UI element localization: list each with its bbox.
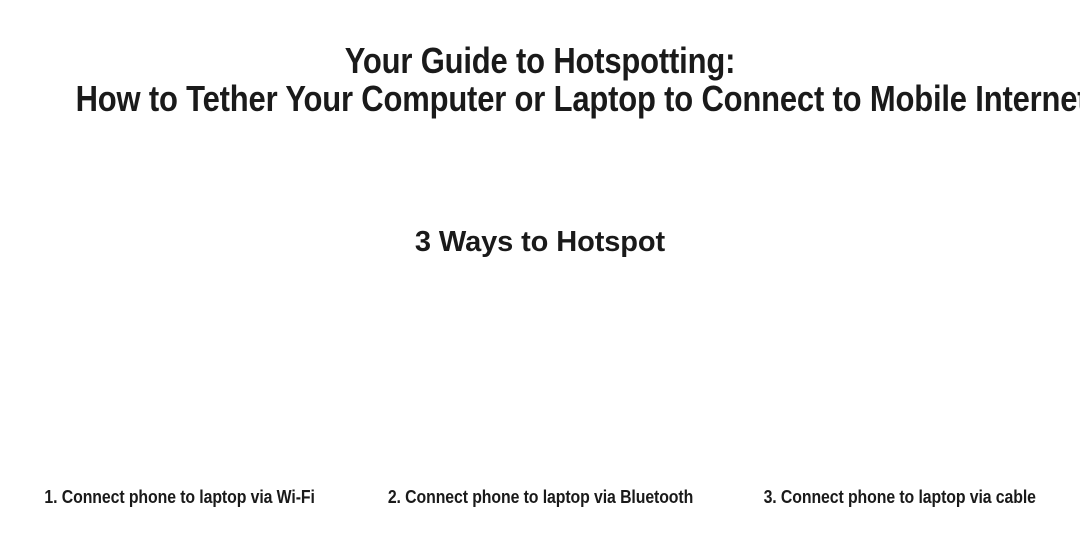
method-caption-cable: 3. Connect phone to laptop via cable bbox=[764, 486, 1036, 508]
method-caption-bluetooth: 2. Connect phone to laptop via Bluetooth bbox=[387, 486, 692, 508]
illustration-cell-3 bbox=[720, 286, 1080, 476]
cable-method-image bbox=[720, 286, 1080, 476]
bluetooth-method-image bbox=[360, 286, 720, 476]
page-title-line-2: How to Tether Your Computer or Laptop to… bbox=[76, 80, 1005, 118]
page-title: Your Guide to Hotspotting: How to Tether… bbox=[0, 42, 1080, 118]
wifi-method-image bbox=[0, 286, 360, 476]
infographic-page: Your Guide to Hotspotting: How to Tether… bbox=[0, 0, 1080, 552]
caption-cell-1: 1. Connect phone to laptop via Wi-Fi bbox=[0, 486, 360, 514]
section-heading-text: 3 Ways to Hotspot bbox=[415, 222, 665, 262]
caption-row: 1. Connect phone to laptop via Wi-Fi 2. … bbox=[0, 486, 1080, 514]
caption-cell-3: 3. Connect phone to laptop via cable bbox=[720, 486, 1080, 514]
caption-cell-2: 2. Connect phone to laptop via Bluetooth bbox=[360, 486, 720, 514]
page-title-line-1: Your Guide to Hotspotting: bbox=[76, 42, 1005, 80]
illustration-row bbox=[0, 286, 1080, 476]
illustration-cell-2 bbox=[360, 286, 720, 476]
illustration-cell-1 bbox=[0, 286, 360, 476]
method-caption-wifi: 1. Connect phone to laptop via Wi-Fi bbox=[45, 486, 315, 508]
section-heading: 3 Ways to Hotspot bbox=[0, 222, 1080, 262]
